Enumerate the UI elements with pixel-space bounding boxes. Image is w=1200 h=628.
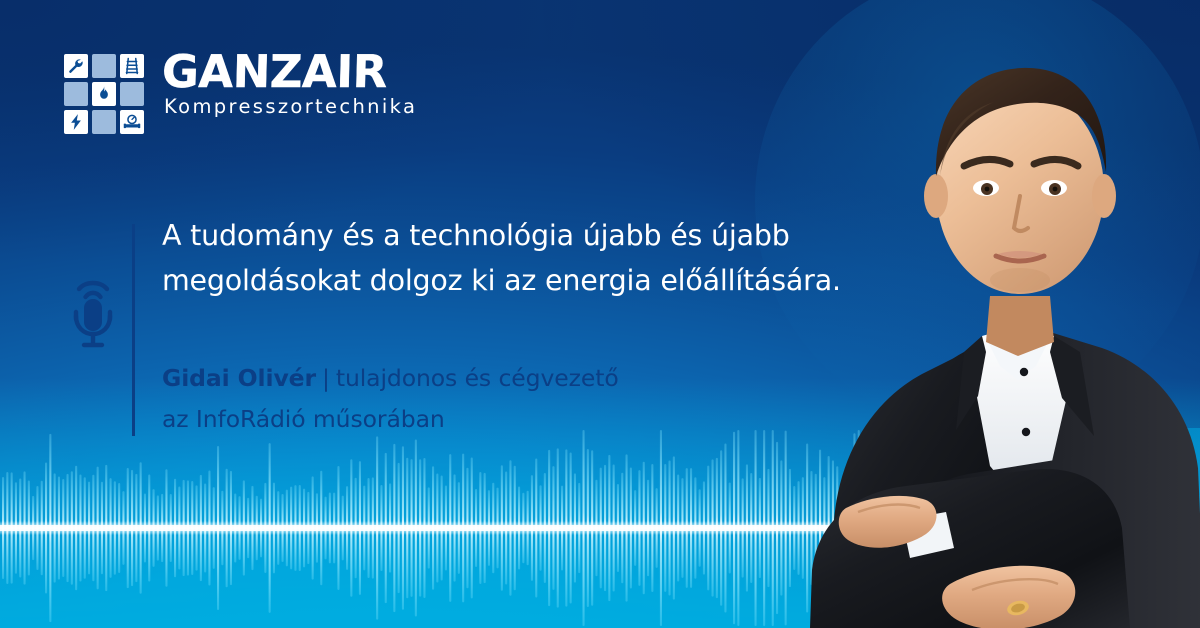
brand-logo-text: GANZAIR Kompresszortechnika bbox=[162, 50, 417, 118]
quote-line-2: megoldásokat dolgoz ki az energia előáll… bbox=[162, 258, 902, 303]
wrench-icon bbox=[64, 54, 88, 78]
quote-accent-rule bbox=[132, 224, 135, 436]
brand-logo[interactable]: GANZAIR Kompresszortechnika bbox=[64, 50, 417, 134]
blank-tile bbox=[64, 82, 88, 106]
attribution: Gidai Olivér|tulajdonos és cégvezető az … bbox=[162, 358, 902, 440]
attribution-line-2: az InfoRádió műsorában bbox=[162, 399, 902, 440]
quote-line-1: A tudomány és a technológia újabb és úja… bbox=[162, 213, 902, 258]
speaker-name: Gidai Olivér bbox=[162, 364, 316, 392]
brand-name: GANZAIR bbox=[161, 50, 417, 93]
blank-tile bbox=[92, 54, 116, 78]
quote-card: GANZAIR Kompresszortechnika A tudomány é… bbox=[0, 0, 1200, 628]
lightning-bolt-icon bbox=[64, 110, 88, 134]
speaker-role: tulajdonos és cégvezető bbox=[336, 364, 619, 392]
blank-tile bbox=[120, 82, 144, 106]
flame-icon bbox=[92, 82, 116, 106]
attribution-separator: | bbox=[316, 364, 336, 392]
brand-logo-mark bbox=[64, 54, 144, 134]
blank-tile bbox=[92, 110, 116, 134]
railway-track-icon bbox=[120, 54, 144, 78]
microphone-icon bbox=[62, 272, 124, 350]
pressure-gauge-icon bbox=[120, 110, 144, 134]
attribution-line-1: Gidai Olivér|tulajdonos és cégvezető bbox=[162, 358, 902, 399]
brand-tagline: Kompresszortechnika bbox=[164, 95, 417, 118]
speaker-portrait-photo bbox=[750, 0, 1200, 628]
quote-text: A tudomány és a technológia újabb és úja… bbox=[162, 213, 902, 303]
